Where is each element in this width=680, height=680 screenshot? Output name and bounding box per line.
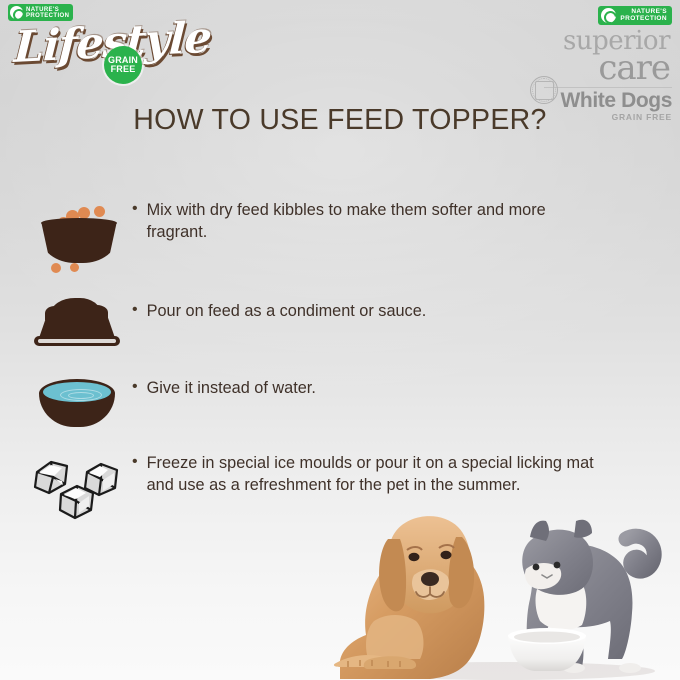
grain-free-badge: GRAIN FREE [104, 46, 142, 84]
bullet-text: Freeze in special ice moulds or pour it … [147, 452, 602, 497]
logo-line-2: PROTECTION [26, 13, 69, 19]
swirl-icon [601, 8, 616, 23]
natures-protection-wordmark-right: NATURE'S PROTECTION [620, 9, 667, 22]
ice-cubes-drawing [29, 450, 125, 520]
logo-line-2: PROTECTION [620, 16, 667, 23]
instruction-row: • Mix with dry feed kibbles to make them… [22, 197, 602, 293]
bowl-with-kibble-icon [29, 197, 125, 293]
poster-canvas: NATURE'S PROTECTION Lifestyle GRAIN FREE… [0, 0, 680, 680]
icon-cell [22, 375, 132, 431]
bullet-text: Pour on feed as a condiment or sauce. [147, 300, 427, 322]
bullet-marker: • [132, 379, 138, 395]
natures-protection-logo-right: NATURE'S PROTECTION [598, 6, 672, 25]
plate-body [39, 316, 115, 338]
plate-with-food-icon [29, 298, 125, 352]
plate-base [34, 336, 120, 346]
bullet-text: Mix with dry feed kibbles to make them s… [147, 199, 602, 244]
water-surface [43, 382, 111, 402]
brand-lifestyle: NATURE'S PROTECTION Lifestyle GRAIN FREE [8, 4, 198, 73]
icon-cell [22, 298, 132, 352]
dog-and-cat-photo [330, 495, 680, 680]
instruction-row: • Give it instead of water. [22, 375, 316, 431]
bowl-body [39, 379, 115, 427]
bullet-body: • Pour on feed as a condiment or sauce. [132, 298, 426, 322]
natures-protection-logo: NATURE'S PROTECTION [8, 4, 73, 21]
brand-superior-care: NATURE'S PROTECTION superior care White … [522, 6, 672, 122]
instruction-row: • Pour on feed as a condiment or sauce. [22, 298, 426, 352]
bullet-marker: • [132, 454, 138, 470]
bullet-marker: • [132, 302, 138, 318]
grain-free-line-2: FREE [111, 65, 136, 74]
bullet-body: • Freeze in special ice moulds or pour i… [132, 450, 602, 497]
icon-cell [22, 197, 132, 293]
bowl-body [41, 221, 117, 263]
ice-cubes-icon [29, 450, 125, 520]
range-grain-free: GRAIN FREE [522, 112, 672, 122]
quality-seal-icon [530, 76, 558, 104]
water-bowl-icon [29, 375, 125, 431]
bullet-body: • Give it instead of water. [132, 375, 316, 399]
ripple-inner [68, 392, 94, 399]
bullet-text: Give it instead of water. [147, 377, 316, 399]
icon-cell [22, 450, 132, 520]
bullet-body: • Mix with dry feed kibbles to make them… [132, 197, 602, 244]
swirl-icon [10, 6, 23, 19]
bullet-marker: • [132, 201, 138, 217]
instruction-row: • Freeze in special ice moulds or pour i… [22, 450, 602, 520]
natures-protection-wordmark: NATURE'S PROTECTION [26, 7, 69, 19]
